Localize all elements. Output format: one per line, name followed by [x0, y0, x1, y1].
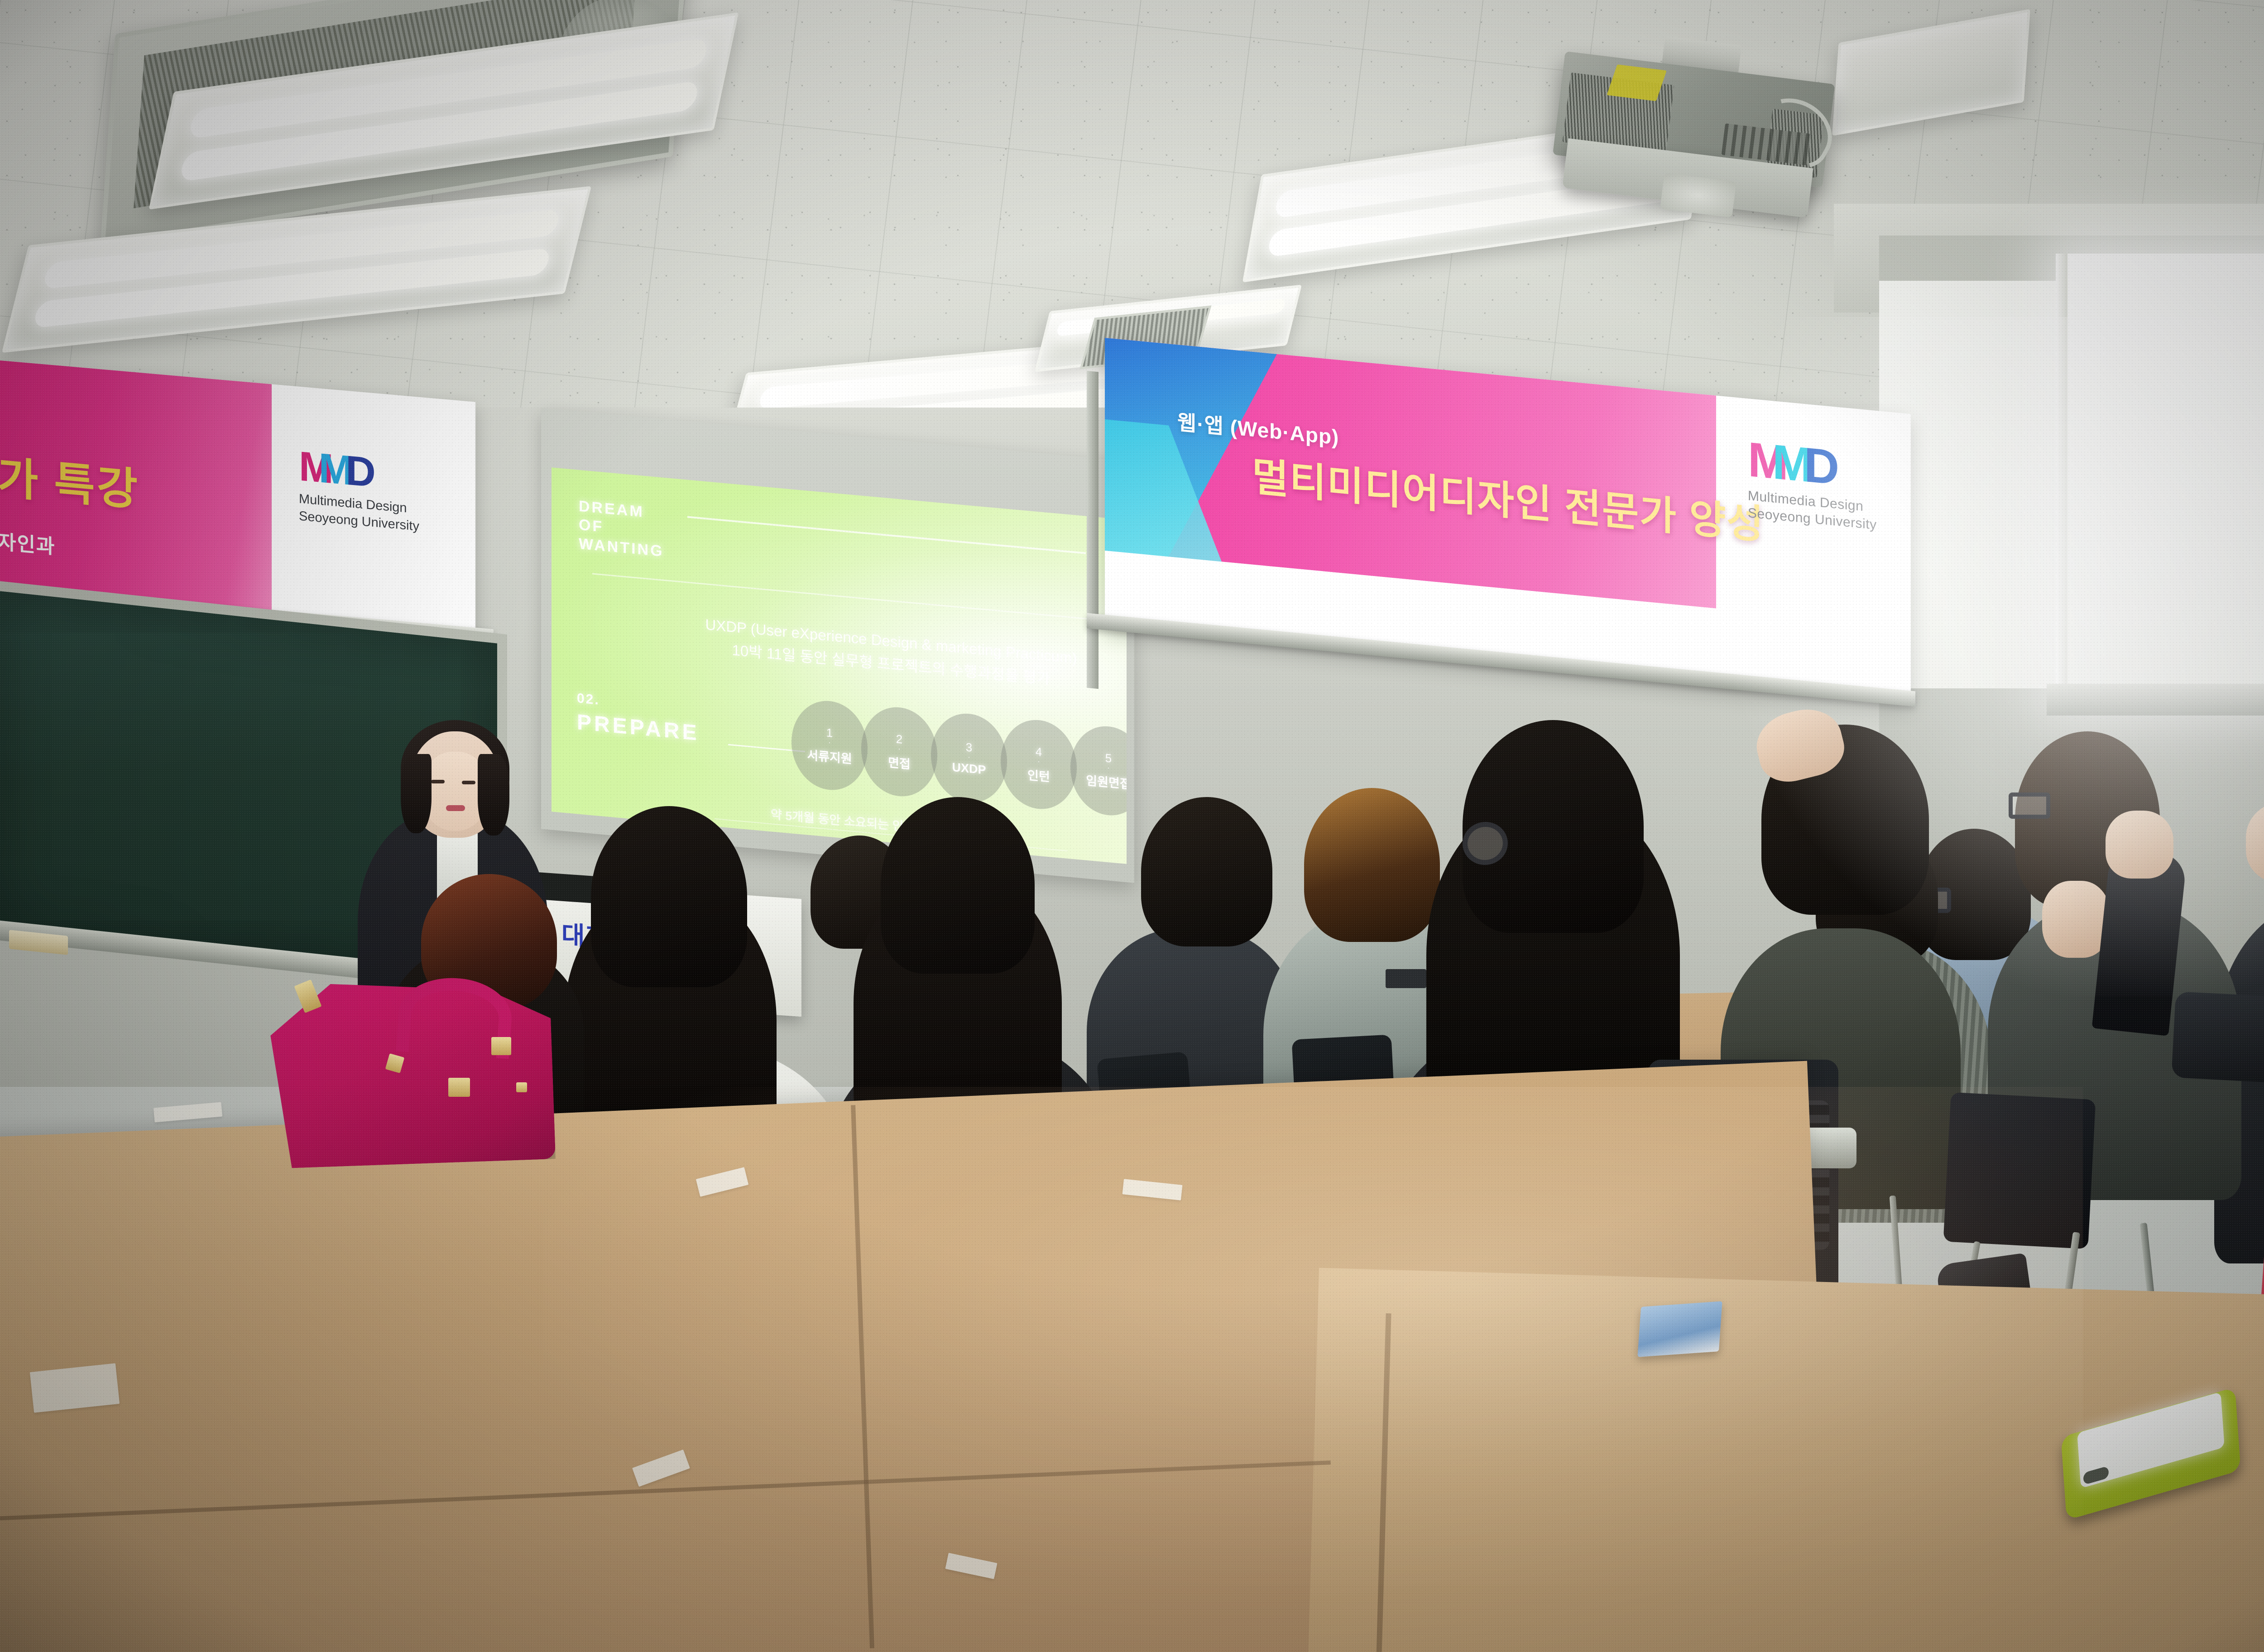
step-dot-icon: · [968, 754, 970, 759]
jacket-patch [1386, 969, 1426, 988]
process-step: 3 · UXDP [931, 710, 1007, 806]
logo-letter-m2: M [319, 447, 350, 491]
slide-body-text: UXDP (User eXperience Design & marketing… [696, 612, 1086, 694]
step-dot-icon: · [828, 740, 831, 744]
mmd-logo: M M D Multimedia Design Seoyeong Univers… [299, 446, 453, 538]
slide-divider [687, 516, 1086, 554]
presenter-hair-side [401, 754, 432, 833]
presenter-eye [462, 781, 475, 784]
process-step: 5 · 임원면접 [1070, 723, 1127, 819]
blue-box-object [1637, 1301, 1722, 1357]
logo-letter-m2: M [1772, 437, 1808, 490]
audience-head [1141, 797, 1272, 946]
slide-section-heading: 02. PREPARE [577, 689, 700, 748]
mmd-logo-mark: M M D [1748, 435, 1897, 498]
process-step: 4 · 인턴 [1001, 716, 1077, 812]
banner-pole [1087, 371, 1098, 689]
paper-scrap [153, 1102, 222, 1123]
mmd-logo: M M D Multimedia Design Seoyeong Univers… [1748, 435, 1897, 536]
step-label: 면접 [888, 753, 911, 773]
step-label: UXDP [952, 760, 986, 778]
audience-raised-hand [2106, 811, 2173, 879]
audience-head [881, 797, 1035, 974]
audience-head [1304, 788, 1440, 942]
step-label: 서류지원 [807, 745, 852, 767]
backpack [2171, 991, 2264, 1087]
slide-section-number: 02. [577, 691, 600, 708]
slide-divider [592, 573, 1099, 620]
audience-head [591, 806, 747, 987]
handbag-hardware-icon [516, 1082, 527, 1092]
window-sill [2047, 684, 2264, 716]
step-dot-icon: · [1107, 765, 1110, 770]
projector-warning-sticker [1607, 64, 1666, 101]
chair [1943, 1092, 2096, 1249]
window-right [2065, 254, 2264, 693]
window-frame [2056, 254, 2067, 697]
eyeglasses-icon [2009, 792, 2050, 819]
slide-section-name: PREPARE [577, 708, 700, 748]
presentation-slide: DREAM OF WANTING UXDP (User eXperience D… [552, 467, 1127, 864]
step-label: 인턴 [1027, 765, 1050, 785]
logo-letter-d: D [345, 450, 371, 494]
process-step: 2 · 면접 [861, 704, 937, 799]
process-step: 1 · 서류지원 [791, 697, 868, 793]
slide-kicker: DREAM OF WANTING [579, 497, 664, 562]
step-dot-icon: · [1037, 759, 1040, 764]
logo-letter-d: D [1804, 440, 1835, 492]
presenter-eye [431, 780, 445, 783]
handbag-hardware-icon [491, 1037, 511, 1055]
classroom-photo: DREAM OF WANTING UXDP (User eXperience D… [0, 0, 2264, 1652]
step-label: 임원면접 [1086, 771, 1127, 792]
presenter-hair-side [478, 754, 509, 836]
step-dot-icon: · [898, 746, 901, 751]
presenter-mouth [446, 805, 465, 811]
handbag-hardware-icon [448, 1078, 470, 1097]
